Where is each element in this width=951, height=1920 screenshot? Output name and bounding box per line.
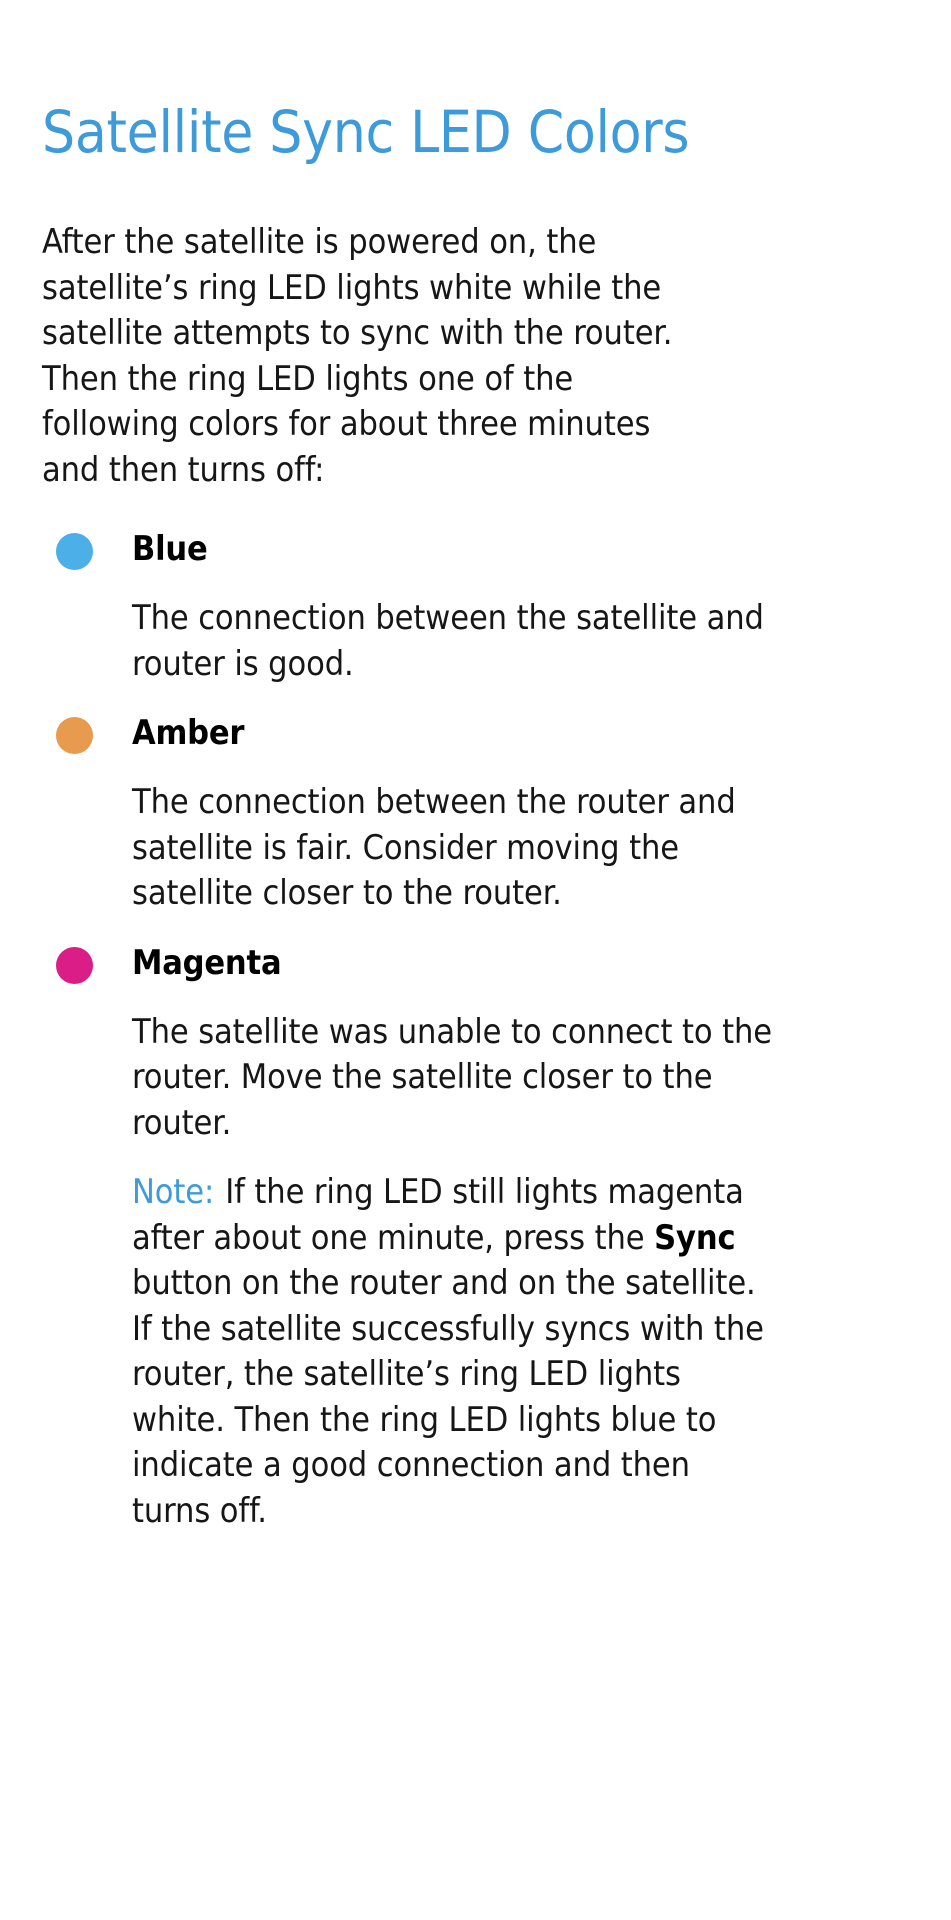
blue-led-dot-icon [56, 533, 93, 570]
list-item-amber: Amber The connection between the router … [42, 709, 922, 939]
led-item-header-amber: Amber [42, 709, 922, 767]
page-title: Satellite Sync LED Colors [42, 97, 902, 167]
led-item-header-magenta: Magenta [42, 939, 922, 997]
led-color-list: Blue The connection between the satellit… [42, 525, 922, 1534]
led-item-header-blue: Blue [42, 525, 922, 583]
list-item-blue: Blue The connection between the satellit… [42, 525, 922, 709]
led-description-magenta: The satellite was unable to connect to t… [132, 997, 772, 1151]
list-item-magenta: Magenta The satellite was unable to conn… [42, 939, 922, 1535]
led-name-magenta: Magenta [132, 939, 281, 987]
document-page: Satellite Sync LED Colors After the sate… [0, 0, 951, 1920]
note-text-before-bold: If the ring LED still lights magenta aft… [132, 1172, 744, 1258]
note-text-after-bold: button on the router and on the satellit… [132, 1263, 764, 1531]
amber-led-dot-icon [56, 717, 93, 754]
magenta-led-dot-icon [56, 947, 93, 984]
led-description-blue: The connection between the satellite and… [132, 583, 772, 709]
note-label: Note: [132, 1172, 214, 1212]
led-name-blue: Blue [132, 525, 208, 573]
led-name-amber: Amber [132, 709, 244, 757]
note-block: Note:If the ring LED still lights magent… [132, 1150, 774, 1534]
led-description-amber: The connection between the router and sa… [132, 767, 772, 939]
intro-paragraph: After the satellite is powered on, the s… [42, 220, 714, 493]
note-bold-term-sync: Sync [654, 1218, 735, 1258]
